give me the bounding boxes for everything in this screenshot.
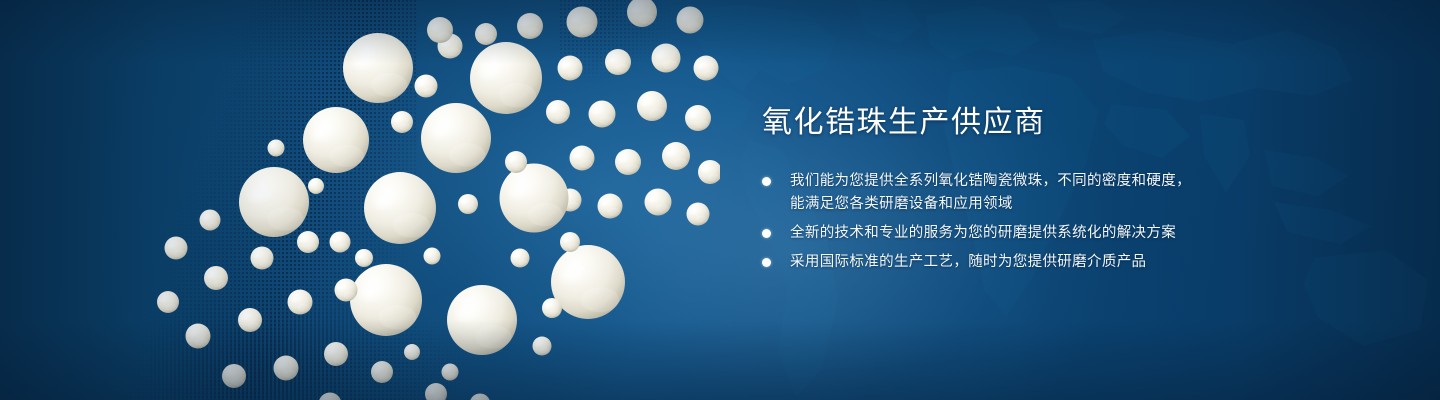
bullet-dot-icon <box>762 229 771 238</box>
hero-banner: 氧化锆珠生产供应商 我们能为您提供全系列氧化锆陶瓷微珠，不同的密度和硬度， 能满… <box>0 0 1440 400</box>
list-item-line: 我们能为您提供全系列氧化锆陶瓷微珠，不同的密度和硬度， <box>790 170 1232 193</box>
list-item: 我们能为您提供全系列氧化锆陶瓷微珠，不同的密度和硬度， 能满足您各类研磨设备和应… <box>762 170 1232 216</box>
banner-content: 氧化锆珠生产供应商 我们能为您提供全系列氧化锆陶瓷微珠，不同的密度和硬度， 能满… <box>762 104 1232 274</box>
feature-list: 我们能为您提供全系列氧化锆陶瓷微珠，不同的密度和硬度， 能满足您各类研磨设备和应… <box>762 170 1232 274</box>
list-item-line: 全新的技术和专业的服务为您的研磨提供系统化的解决方案 <box>790 222 1232 245</box>
page-title: 氧化锆珠生产供应商 <box>762 104 1232 142</box>
bullet-dot-icon <box>762 258 771 267</box>
list-item: 全新的技术和专业的服务为您的研磨提供系统化的解决方案 <box>762 222 1232 245</box>
list-item-line: 采用国际标准的生产工艺，随时为您提供研磨介质产品 <box>790 251 1232 274</box>
list-item: 采用国际标准的生产工艺，随时为您提供研磨介质产品 <box>762 251 1232 274</box>
list-item-line: 能满足您各类研磨设备和应用领域 <box>790 193 1232 216</box>
bullet-dot-icon <box>762 177 771 186</box>
